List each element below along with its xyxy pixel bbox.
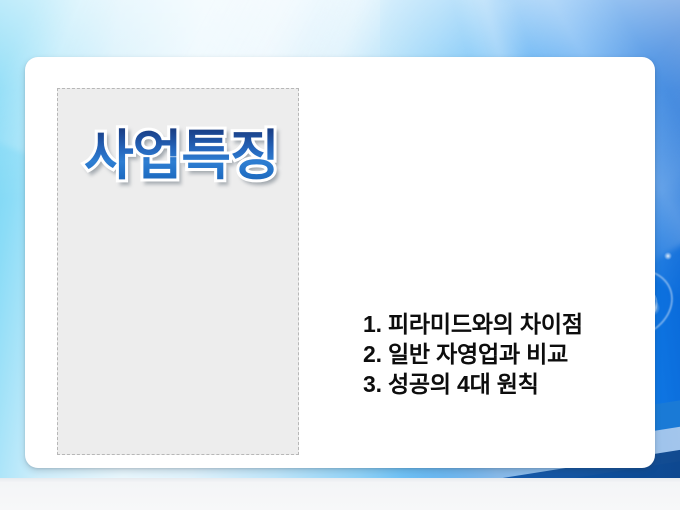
list-item[interactable]: 1. 피라미드와의 차이점 bbox=[363, 309, 643, 339]
slide-content-card: 사업특징 사업특징 사업특징 1. 피라미드와의 차이점 2. 일반 자영업과 … bbox=[25, 57, 655, 468]
presentation-slide: 사업특징 사업특징 사업특징 1. 피라미드와의 차이점 2. 일반 자영업과 … bbox=[0, 0, 680, 510]
slide-title[interactable]: 사업특징 사업특징 사업특징 bbox=[84, 121, 314, 191]
title-fill-layer: 사업특징 bbox=[84, 121, 279, 191]
list-item[interactable]: 3. 성공의 4대 원칙 bbox=[363, 369, 643, 399]
list-item[interactable]: 2. 일반 자영업과 비교 bbox=[363, 339, 643, 369]
slide-bottom-strip bbox=[0, 478, 680, 510]
agenda-list: 1. 피라미드와의 차이점 2. 일반 자영업과 비교 3. 성공의 4대 원칙 bbox=[363, 309, 643, 399]
